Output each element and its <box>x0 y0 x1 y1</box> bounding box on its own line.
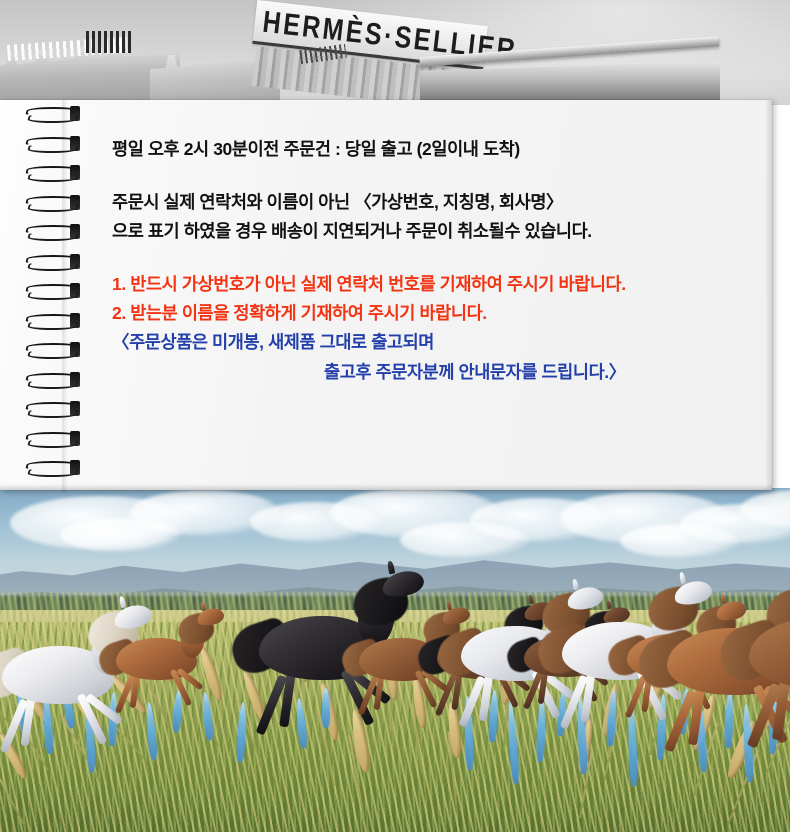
notice-notepad-panel: 평일 오후 2시 30분이전 주문건 : 당일 출고 (2일이내 도착) 주문시… <box>0 100 772 490</box>
notice-line-sms-notice: 출고후 주문자분께 안내문자를 드립니다.〉 <box>112 361 762 384</box>
promotional-banner-page: HERMÈS·SELLIER 평일 오후 2시 30분이전 주문건 : 당일 출… <box>0 0 790 832</box>
horse <box>112 638 220 746</box>
notice-line-rule-2: 2. 받는분 이름을 정확하게 기재하여 주시기 바랍니다. <box>112 302 762 325</box>
notice-line-fake-contact-2: 으로 표기 하였을 경우 배송이 지연되거나 주문이 취소될수 있습니다. <box>112 220 762 243</box>
notice-line-fake-contact-1: 주문시 실제 연락처와 이름이 아닌 〈가상번호, 지칭명, 회사명〉 <box>112 191 762 214</box>
notice-line-sealed-product: 〈주문상품은 미개봉, 새제품 그대로 출고되며 <box>112 331 762 354</box>
spacer <box>112 161 762 191</box>
cloud <box>400 522 530 558</box>
hermes-sellier-vintage-photo: HERMÈS·SELLIER <box>0 0 790 105</box>
notice-line-rule-1: 1. 반드시 가상번호가 아닌 실제 연락처 번호를 기재하여 주시기 바랍니다… <box>112 273 762 296</box>
photo-grain-overlay <box>0 0 790 105</box>
horse <box>742 618 790 798</box>
panel-right-edge <box>765 100 772 490</box>
galloping-horses-illustration <box>0 488 790 832</box>
notice-text-block: 평일 오후 2시 30분이전 주문건 : 당일 출고 (2일이내 도착) 주문시… <box>112 100 762 490</box>
spacer <box>112 243 762 273</box>
cloud <box>60 518 180 552</box>
notice-line-shipping-cutoff: 평일 오후 2시 30분이전 주문건 : 당일 출고 (2일이내 도착) <box>112 138 762 161</box>
cloud <box>620 524 740 558</box>
